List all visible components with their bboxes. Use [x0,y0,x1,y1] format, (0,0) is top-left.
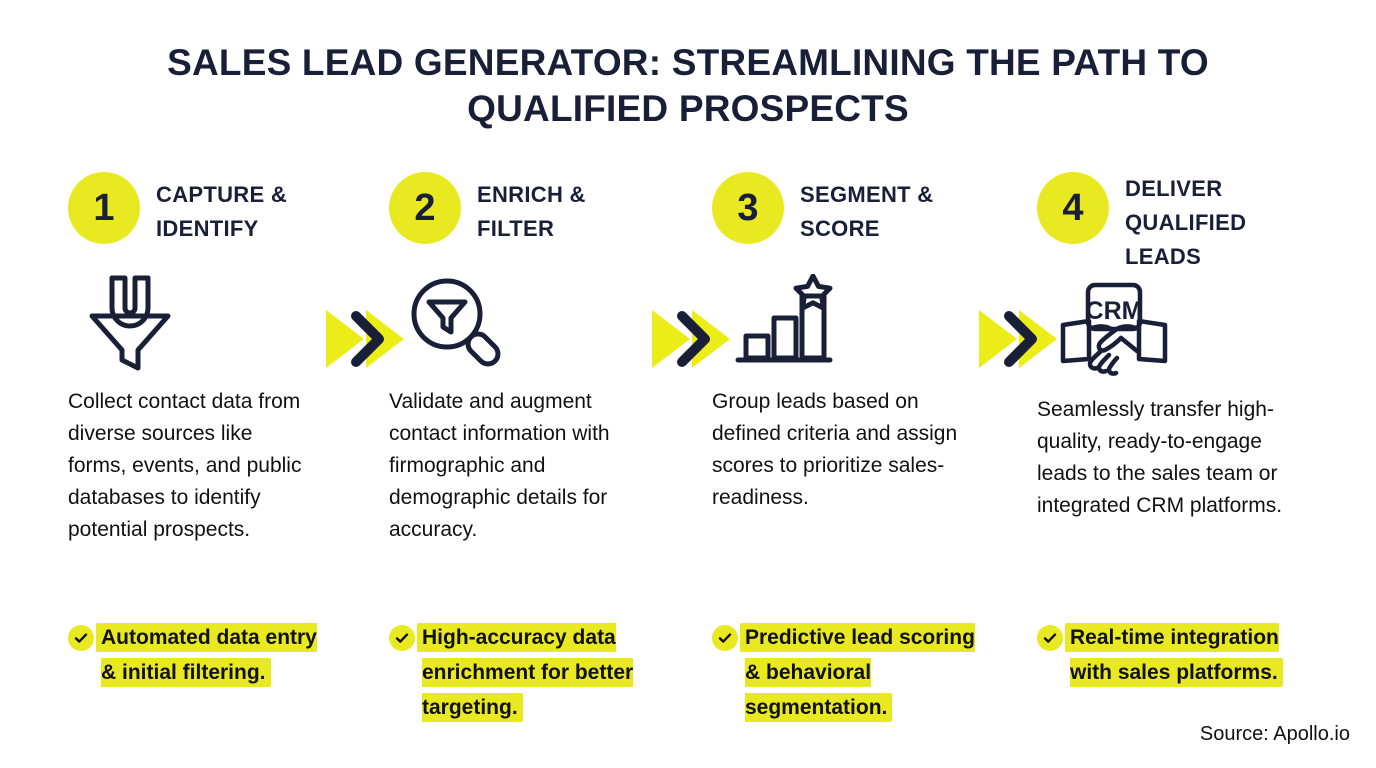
bar-chart-star-icon [732,274,836,370]
step-title-2: ENRICH & FILTER [477,172,640,246]
step-benefit-1: Automated data entry & initial filtering… [68,620,325,690]
source-attribution: Source: Apollo.io [1200,723,1350,746]
step-benefit-label-3: Predictive lead scoring & behavioral seg… [745,620,975,725]
step-benefit-4: Real-time integration with sales platfor… [1037,620,1300,690]
step-column-2: 2 ENRICH & FILTER Validate and augment c… [325,172,650,546]
step-column-3: 3 SEGMENT & SCORE Group [650,172,975,546]
step-column-1: 1 CAPTURE & IDENTIFY Col [0,172,325,546]
step-benefit-2: High-accuracy data enrichment for better… [389,620,650,725]
step-column-4: 4 DELIVER QUALIFIED LEADS [975,172,1300,546]
check-icon-1 [68,625,94,651]
step-icon-wrap-1 [68,266,315,378]
check-icon-3 [712,625,738,651]
step-benefit-label-2: High-accuracy data enrichment for better… [422,620,650,725]
step-number-badge-1: 1 [68,172,140,244]
step-benefit-label-1: Automated data entry & initial filtering… [101,620,325,690]
steps-container: 1 CAPTURE & IDENTIFY Col [0,172,1376,546]
step-header-4: 4 DELIVER QUALIFIED LEADS [1037,172,1290,274]
step-number-badge-3: 3 [712,172,784,244]
step-description-3: Group leads based on defined criteria an… [712,386,965,514]
step-description-1: Collect contact data from diverse source… [68,386,315,546]
check-icon-4 [1037,625,1063,651]
step-icon-wrap-2 [389,266,640,378]
step-title-4: DELIVER QUALIFIED LEADS [1125,172,1290,274]
step-number-badge-2: 2 [389,172,461,244]
step-title-3: SEGMENT & SCORE [800,172,965,246]
step-header-3: 3 SEGMENT & SCORE [712,172,965,266]
step-benefit-label-4: Real-time integration with sales platfor… [1070,620,1300,690]
step-title-1: CAPTURE & IDENTIFY [156,172,315,246]
step-description-2: Validate and augment contact information… [389,386,640,546]
magnifier-filter-icon [405,272,505,372]
page-title: SALES LEAD GENERATOR: STREAMLINING THE P… [120,40,1256,132]
magnet-funnel-icon [84,272,176,372]
step-number-badge-4: 4 [1037,172,1109,244]
step-icon-wrap-4: CRM [1037,274,1290,386]
step-benefit-3: Predictive lead scoring & behavioral seg… [712,620,975,725]
step-description-4: Seamlessly transfer high-quality, ready-… [1037,394,1290,522]
check-icon-2 [389,625,415,651]
svg-text:CRM: CRM [1086,297,1143,325]
crm-handshake-icon: CRM [1059,281,1169,379]
step-header-1: 1 CAPTURE & IDENTIFY [68,172,315,266]
infographic-canvas: SALES LEAD GENERATOR: STREAMLINING THE P… [0,0,1376,768]
step-icon-wrap-3 [712,266,965,378]
step-header-2: 2 ENRICH & FILTER [389,172,640,266]
